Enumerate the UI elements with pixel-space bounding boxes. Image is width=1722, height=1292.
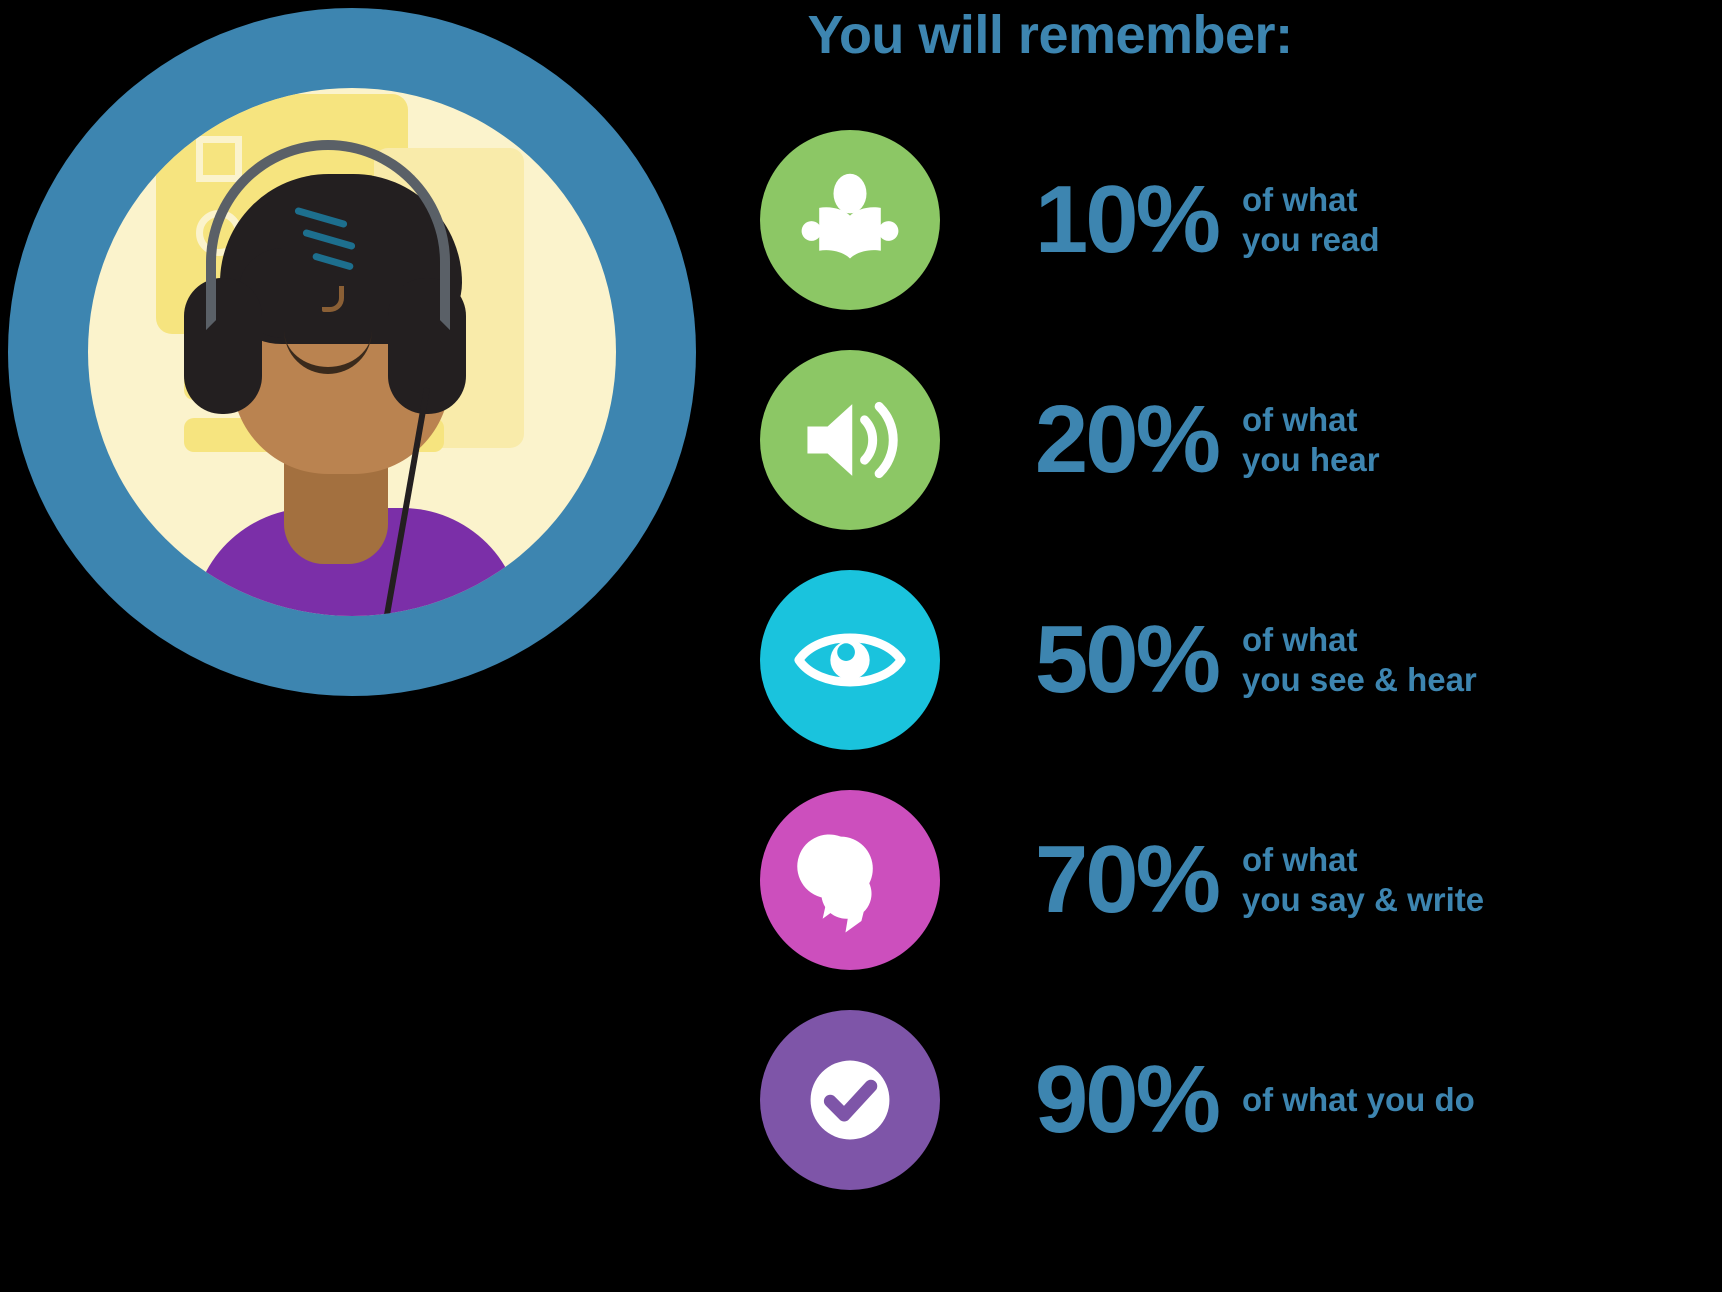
stat-row: 70% of what you say & write <box>760 790 1484 970</box>
stat-row: 50% of what you see & hear <box>760 570 1477 750</box>
stat-percent: 10% <box>988 172 1218 268</box>
portrait-illustration <box>88 88 616 616</box>
stat-row: 90% of what you do <box>760 1010 1475 1190</box>
stat-row: 20% of what you hear <box>760 350 1380 530</box>
portrait-panel <box>8 8 696 696</box>
stat-label: of what you hear <box>1242 400 1380 481</box>
stat-label: of what you see & hear <box>1242 620 1477 701</box>
stat-percent: 70% <box>988 832 1218 928</box>
infographic-root: You will remember: 10% of what you read <box>0 0 1722 1292</box>
stat-label: of what you do <box>1242 1080 1475 1120</box>
reading-person-icon <box>760 130 940 310</box>
speaker-volume-icon <box>760 350 940 530</box>
check-circle-icon <box>760 1010 940 1190</box>
page-title: You will remember: <box>700 4 1400 66</box>
background-square-shape <box>196 136 242 182</box>
stat-percent: 90% <box>988 1052 1218 1148</box>
speech-bubbles-icon <box>760 790 940 970</box>
stat-label: of what you say & write <box>1242 840 1484 921</box>
stat-label: of what you read <box>1242 180 1380 261</box>
stat-percent: 20% <box>988 392 1218 488</box>
stat-row: 10% of what you read <box>760 130 1380 310</box>
stat-percent: 50% <box>988 612 1218 708</box>
eye-icon <box>760 570 940 750</box>
stats-panel: You will remember: 10% of what you read <box>700 0 1722 1292</box>
